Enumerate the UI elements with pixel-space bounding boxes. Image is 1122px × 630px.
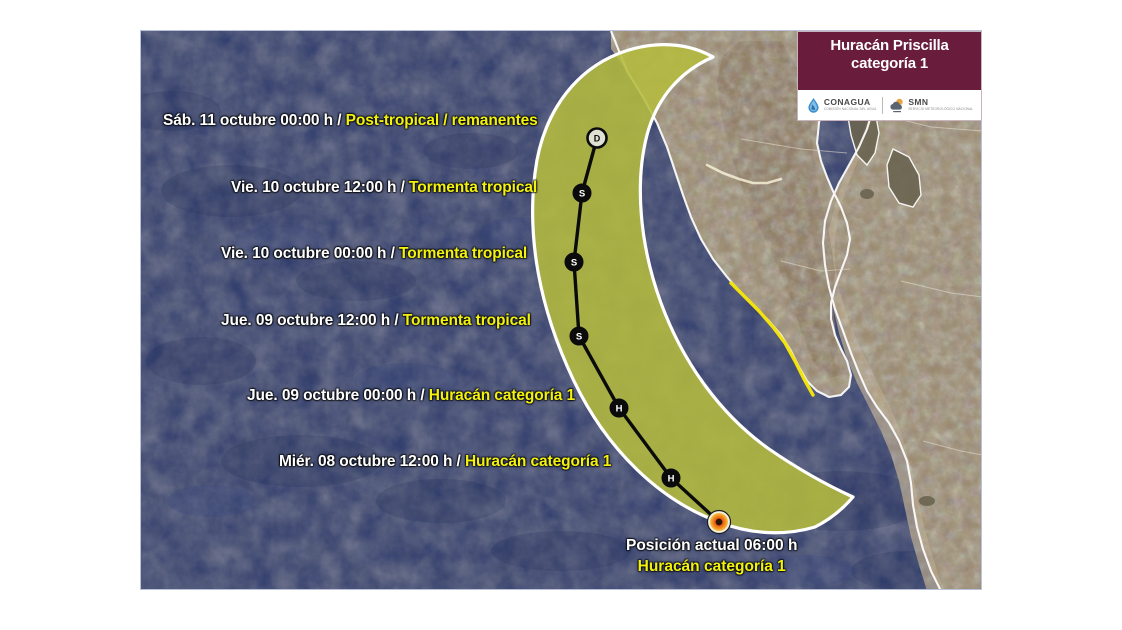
marker-tropical-storm-3: S <box>573 184 591 202</box>
conagua-name: CONAGUA <box>824 98 877 107</box>
logo-divider <box>882 97 883 114</box>
marker-tropical-storm-1: S <box>570 327 588 345</box>
marker-post-tropical: D <box>588 129 607 148</box>
conagua-subtitle: COMISIÓN NACIONAL DEL AGUA <box>824 108 877 111</box>
isla-small-2 <box>919 496 935 506</box>
label-category: Post-tropical / remanentes <box>346 112 538 129</box>
marker-hurricane-1: H <box>662 469 680 487</box>
label-point-mier-08-1200: Miér. 08 octubre 12:00 h / Huracán categ… <box>279 453 611 471</box>
banner-header: Huracán Priscilla categoría 1 <box>798 32 981 90</box>
current-position-time: Posición actual 06:00 h <box>626 536 797 557</box>
svg-text:S: S <box>579 188 585 199</box>
label-date: Vie. 10 octubre 12:00 h <box>231 179 396 196</box>
conagua-logo: CONAGUA COMISIÓN NACIONAL DEL AGUA <box>806 97 877 114</box>
label-point-jue-09-1200: Jue. 09 octubre 12:00 h / Tormenta tropi… <box>221 312 531 330</box>
label-category: Huracán categoría 1 <box>465 453 611 470</box>
label-date: Jue. 09 octubre 12:00 h <box>221 312 390 329</box>
label-separator: / <box>390 312 403 329</box>
marker-hurricane-2: H <box>610 399 628 417</box>
label-point-vie-10-0000: Vie. 10 octubre 00:00 h / Tormenta tropi… <box>221 245 527 263</box>
storm-title-banner: Huracán Priscilla categoría 1 CONAGUA CO… <box>797 31 982 121</box>
label-current-position: Posición actual 06:00 h Huracán categorí… <box>626 536 797 578</box>
label-point-vie-10-1200: Vie. 10 octubre 12:00 h / Tormenta tropi… <box>231 179 537 197</box>
agency-logos: CONAGUA COMISIÓN NACIONAL DEL AGUA SMN S… <box>798 90 981 120</box>
conagua-text: CONAGUA COMISIÓN NACIONAL DEL AGUA <box>824 98 877 111</box>
cloud-sun-icon <box>889 97 905 114</box>
current-position-category: Huracán categoría 1 <box>626 557 797 578</box>
label-separator: / <box>333 112 346 129</box>
label-category: Huracán categoría 1 <box>429 387 575 404</box>
label-separator: / <box>386 245 399 262</box>
label-separator: / <box>416 387 429 404</box>
label-date: Jue. 09 octubre 00:00 h <box>247 387 416 404</box>
marker-current-position <box>708 511 731 534</box>
label-date: Miér. 08 octubre 12:00 h <box>279 453 452 470</box>
label-date: Sáb. 11 octubre 00:00 h <box>163 112 333 129</box>
isla-small-1 <box>860 189 874 199</box>
label-category: Tormenta tropical <box>409 179 537 196</box>
label-separator: / <box>452 453 465 470</box>
svg-text:H: H <box>616 403 623 414</box>
svg-text:S: S <box>576 331 582 342</box>
storm-name: Huracán Priscilla <box>804 37 975 55</box>
label-category: Tormenta tropical <box>403 312 531 329</box>
svg-text:D: D <box>594 133 601 143</box>
label-point-sab-11-0000: Sáb. 11 octubre 00:00 h / Post-tropical … <box>163 112 538 130</box>
svg-text:S: S <box>571 257 577 268</box>
label-date: Vie. 10 octubre 00:00 h <box>221 245 386 262</box>
label-point-jue-09-0000: Jue. 09 octubre 00:00 h / Huracán catego… <box>247 387 575 405</box>
svg-text:H: H <box>668 473 675 484</box>
smn-text: SMN SERVICIO METEOROLÓGICO NACIONAL <box>908 98 973 111</box>
label-separator: / <box>396 179 409 196</box>
screenshot-root: H H S S <box>0 0 1122 630</box>
water-drop-icon <box>806 97 821 114</box>
smn-subtitle: SERVICIO METEOROLÓGICO NACIONAL <box>908 108 973 111</box>
smn-logo: SMN SERVICIO METEOROLÓGICO NACIONAL <box>889 97 973 114</box>
smn-name: SMN <box>908 98 973 107</box>
marker-tropical-storm-2: S <box>565 253 583 271</box>
storm-category: categoría 1 <box>804 55 975 73</box>
label-category: Tormenta tropical <box>399 245 527 262</box>
